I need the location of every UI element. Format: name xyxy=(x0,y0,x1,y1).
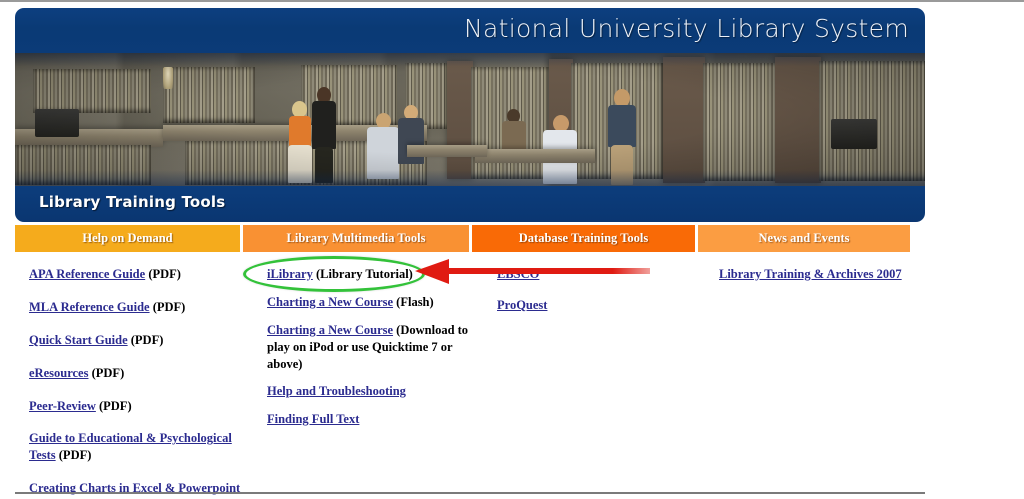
category-tab-bar[interactable]: Help on Demand Library Multimedia Tools … xyxy=(15,225,925,252)
link-library-multimedia-tools-5[interactable]: Finding Full Text xyxy=(267,412,359,426)
link-library-multimedia-tools-2[interactable]: Charting a New Course xyxy=(267,295,393,309)
link-library-multimedia-tools-3[interactable]: Charting a New Course xyxy=(267,323,393,337)
column-help-on-demand: APA Reference Guide (PDF)MLA Reference G… xyxy=(15,266,253,499)
link-suffix: (PDF) xyxy=(56,448,92,462)
list-item: APA Reference Guide (PDF) xyxy=(29,266,253,283)
list-item: ProQuest xyxy=(497,297,708,314)
link-help-on-demand-1[interactable]: APA Reference Guide xyxy=(29,267,145,281)
list-item: Creating Charts in Excel & Powerpoint xyxy=(29,480,253,497)
list-item: Guide to Educational & Psychological Tes… xyxy=(29,430,253,464)
list-item: eResources (PDF) xyxy=(29,365,253,382)
link-database-training-tools-2[interactable]: ProQuest xyxy=(497,298,547,312)
tab-label: Help on Demand xyxy=(82,231,172,246)
section-banner: Library Training Tools xyxy=(15,186,925,222)
tab-library-multimedia-tools[interactable]: Library Multimedia Tools xyxy=(243,225,472,252)
column-library-multimedia-tools: iLibrary (Library Tutorial)Charting a Ne… xyxy=(253,266,482,499)
link-suffix: (PDF) xyxy=(88,366,124,380)
list-item: Library Training & Archives 2007 xyxy=(719,266,920,283)
screenshot-canvas: National University Library System xyxy=(0,0,1024,499)
link-news-and-events-1[interactable]: Library Training & Archives 2007 xyxy=(719,267,902,281)
list-item: Charting a New Course (Flash) xyxy=(267,294,482,311)
link-suffix: (PDF) xyxy=(128,333,164,347)
tab-news-and-events[interactable]: News and Events xyxy=(698,225,910,252)
link-library-multimedia-tools-1[interactable]: iLibrary xyxy=(267,267,313,281)
tab-database-training-tools[interactable]: Database Training Tools xyxy=(472,225,698,252)
link-help-on-demand-2[interactable]: MLA Reference Guide xyxy=(29,300,150,314)
link-help-on-demand-3[interactable]: Quick Start Guide xyxy=(29,333,128,347)
tab-label: Database Training Tools xyxy=(519,231,648,246)
link-suffix: (Library Tutorial) xyxy=(313,267,413,281)
tab-label: News and Events xyxy=(759,231,850,246)
link-library-multimedia-tools-4[interactable]: Help and Troubleshooting xyxy=(267,384,406,398)
library-page: National University Library System xyxy=(15,8,925,495)
list-item: Finding Full Text xyxy=(267,411,482,428)
column-news-and-events: Library Training & Archives 2007 xyxy=(708,266,920,499)
page-title: National University Library System xyxy=(464,14,909,43)
link-columns: APA Reference Guide (PDF)MLA Reference G… xyxy=(15,252,925,499)
link-help-on-demand-5[interactable]: Peer-Review xyxy=(29,399,96,413)
list-item: Charting a New Course (Download to play … xyxy=(267,322,482,373)
list-item: Peer-Review (PDF) xyxy=(29,398,253,415)
list-item: Help and Troubleshooting xyxy=(267,383,482,400)
link-suffix: (Flash) xyxy=(393,295,434,309)
site-header: National University Library System xyxy=(15,8,925,53)
photo-vignette xyxy=(15,53,925,186)
list-item: iLibrary (Library Tutorial) xyxy=(267,266,482,283)
link-suffix: (PDF) xyxy=(145,267,181,281)
list-item: MLA Reference Guide (PDF) xyxy=(29,299,253,316)
link-suffix: (PDF) xyxy=(150,300,186,314)
list-item: EBSCO xyxy=(497,266,708,283)
link-suffix: (PDF) xyxy=(96,399,132,413)
library-photo-banner xyxy=(15,53,925,186)
list-item: Quick Start Guide (PDF) xyxy=(29,332,253,349)
link-help-on-demand-4[interactable]: eResources xyxy=(29,366,88,380)
section-banner-title: Library Training Tools xyxy=(39,193,225,211)
column-database-training-tools: EBSCOProQuest xyxy=(482,266,708,499)
link-database-training-tools-1[interactable]: EBSCO xyxy=(497,267,539,281)
tab-help-on-demand[interactable]: Help on Demand xyxy=(15,225,243,252)
page-bottom-rule xyxy=(15,492,925,494)
tab-label: Library Multimedia Tools xyxy=(287,231,426,246)
